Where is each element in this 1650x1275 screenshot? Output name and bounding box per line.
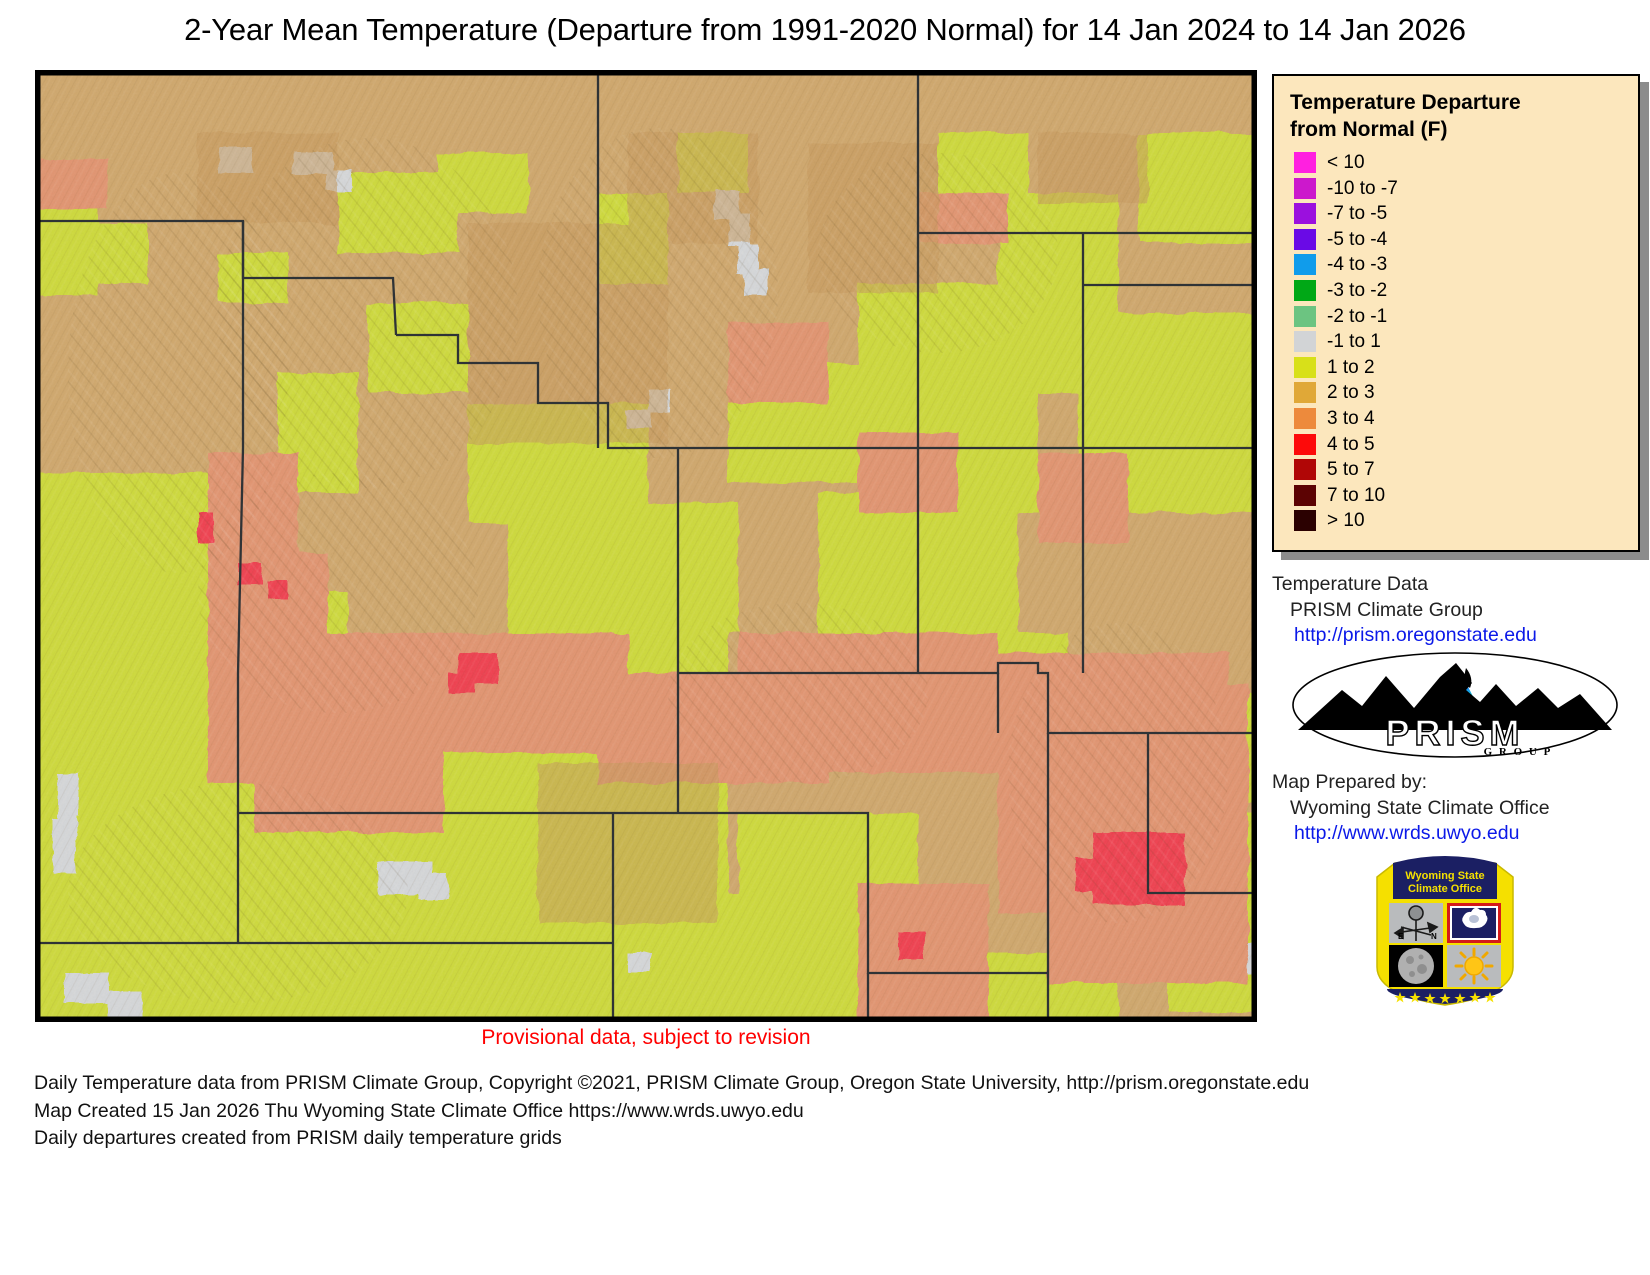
legend-label: 7 to 10	[1327, 486, 1385, 505]
legend-swatch	[1294, 510, 1316, 531]
prism-group-logo: PRISM G R O U P	[1290, 650, 1620, 760]
legend-row: > 10	[1290, 508, 1622, 534]
legend-swatch	[1294, 229, 1316, 250]
legend-swatch	[1294, 357, 1316, 378]
footer-line-3: Daily departures created from PRISM dail…	[34, 1125, 1634, 1153]
legend-row: -2 to -1	[1290, 303, 1622, 329]
legend-swatch	[1294, 203, 1316, 224]
map-prepared-line2: Wyoming State Climate Office	[1272, 796, 1550, 822]
legend-label: -1 to 1	[1327, 332, 1381, 351]
map-prepared-line1: Map Prepared by:	[1272, 770, 1550, 796]
legend-swatch	[1294, 254, 1316, 275]
legend-label: -10 to -7	[1327, 179, 1398, 198]
svg-text:E: E	[1398, 932, 1404, 941]
wsco-badge-line1: Wyoming State	[1405, 870, 1484, 882]
legend-label: -2 to -1	[1327, 307, 1387, 326]
prism-link[interactable]: http://prism.oregonstate.edu	[1272, 623, 1537, 649]
legend-row: -5 to -4	[1290, 227, 1622, 253]
legend-row: -7 to -5	[1290, 201, 1622, 227]
legend-swatch	[1294, 408, 1316, 429]
map-shaded-relief	[38, 73, 1254, 1019]
legend-swatch	[1294, 178, 1316, 199]
temperature-data-credit: Temperature Data PRISM Climate Group htt…	[1272, 572, 1537, 649]
footer-line-2: Map Created 15 Jan 2026 Thu Wyoming Stat…	[34, 1098, 1634, 1126]
legend-label: -5 to -4	[1327, 230, 1387, 249]
legend-swatch	[1294, 331, 1316, 352]
svg-text:N: N	[1431, 932, 1437, 941]
legend-row: 7 to 10	[1290, 482, 1622, 508]
provisional-notice: Provisional data, subject to revision	[35, 1026, 1257, 1050]
wyoming-state-climate-office-badge: Wyoming State Climate Office E N	[1365, 855, 1525, 1010]
map-panel[interactable]	[35, 70, 1257, 1022]
prism-logo-subtext: G R O U P	[1484, 746, 1553, 758]
legend-row: < 10	[1290, 150, 1622, 176]
legend-label: -4 to -3	[1327, 255, 1387, 274]
legend-label: 3 to 4	[1327, 409, 1375, 428]
legend-row: 1 to 2	[1290, 355, 1622, 381]
legend-row: 4 to 5	[1290, 431, 1622, 457]
legend-label: < 10	[1327, 153, 1365, 172]
legend-label: > 10	[1327, 511, 1365, 530]
temperature-data-line2: PRISM Climate Group	[1272, 598, 1537, 624]
legend-label: -7 to -5	[1327, 204, 1387, 223]
legend-label: 2 to 3	[1327, 383, 1375, 402]
legend-label: -3 to -2	[1327, 281, 1387, 300]
legend-row: -1 to 1	[1290, 329, 1622, 355]
footer-line-1: Daily Temperature data from PRISM Climat…	[34, 1070, 1634, 1098]
map-prepared-credit: Map Prepared by: Wyoming State Climate O…	[1272, 770, 1550, 847]
wsco-badge-line2: Climate Office	[1408, 883, 1482, 895]
legend-label: 5 to 7	[1327, 460, 1375, 479]
wyoming-departure-map[interactable]	[38, 73, 1254, 1019]
legend-title: Temperature Departure from Normal (F)	[1290, 90, 1622, 144]
legend-swatch	[1294, 280, 1316, 301]
legend-title-line2: from Normal (F)	[1290, 117, 1622, 144]
legend-row: -10 to -7	[1290, 175, 1622, 201]
page-title: 2-Year Mean Temperature (Departure from …	[0, 12, 1650, 48]
legend-row: -3 to -2	[1290, 278, 1622, 304]
legend-swatch	[1294, 306, 1316, 327]
temperature-data-line1: Temperature Data	[1272, 572, 1537, 598]
legend-row: -4 to -3	[1290, 252, 1622, 278]
legend-row: 5 to 7	[1290, 457, 1622, 483]
legend-swatch	[1294, 459, 1316, 480]
legend-items: < 10-10 to -7-7 to -5-5 to -4-4 to -3-3 …	[1290, 150, 1622, 534]
legend-swatch	[1294, 434, 1316, 455]
legend-row: 3 to 4	[1290, 406, 1622, 432]
legend-swatch	[1294, 485, 1316, 506]
legend-row: 2 to 3	[1290, 380, 1622, 406]
legend-box: Temperature Departure from Normal (F) < …	[1272, 74, 1640, 552]
legend-swatch	[1294, 382, 1316, 403]
legend-label: 4 to 5	[1327, 435, 1375, 454]
legend-swatch	[1294, 152, 1316, 173]
legend-label: 1 to 2	[1327, 358, 1375, 377]
footer: Daily Temperature data from PRISM Climat…	[34, 1070, 1634, 1153]
legend-title-line1: Temperature Departure	[1290, 90, 1622, 117]
wrds-link[interactable]: http://www.wrds.uwyo.edu	[1272, 821, 1550, 847]
